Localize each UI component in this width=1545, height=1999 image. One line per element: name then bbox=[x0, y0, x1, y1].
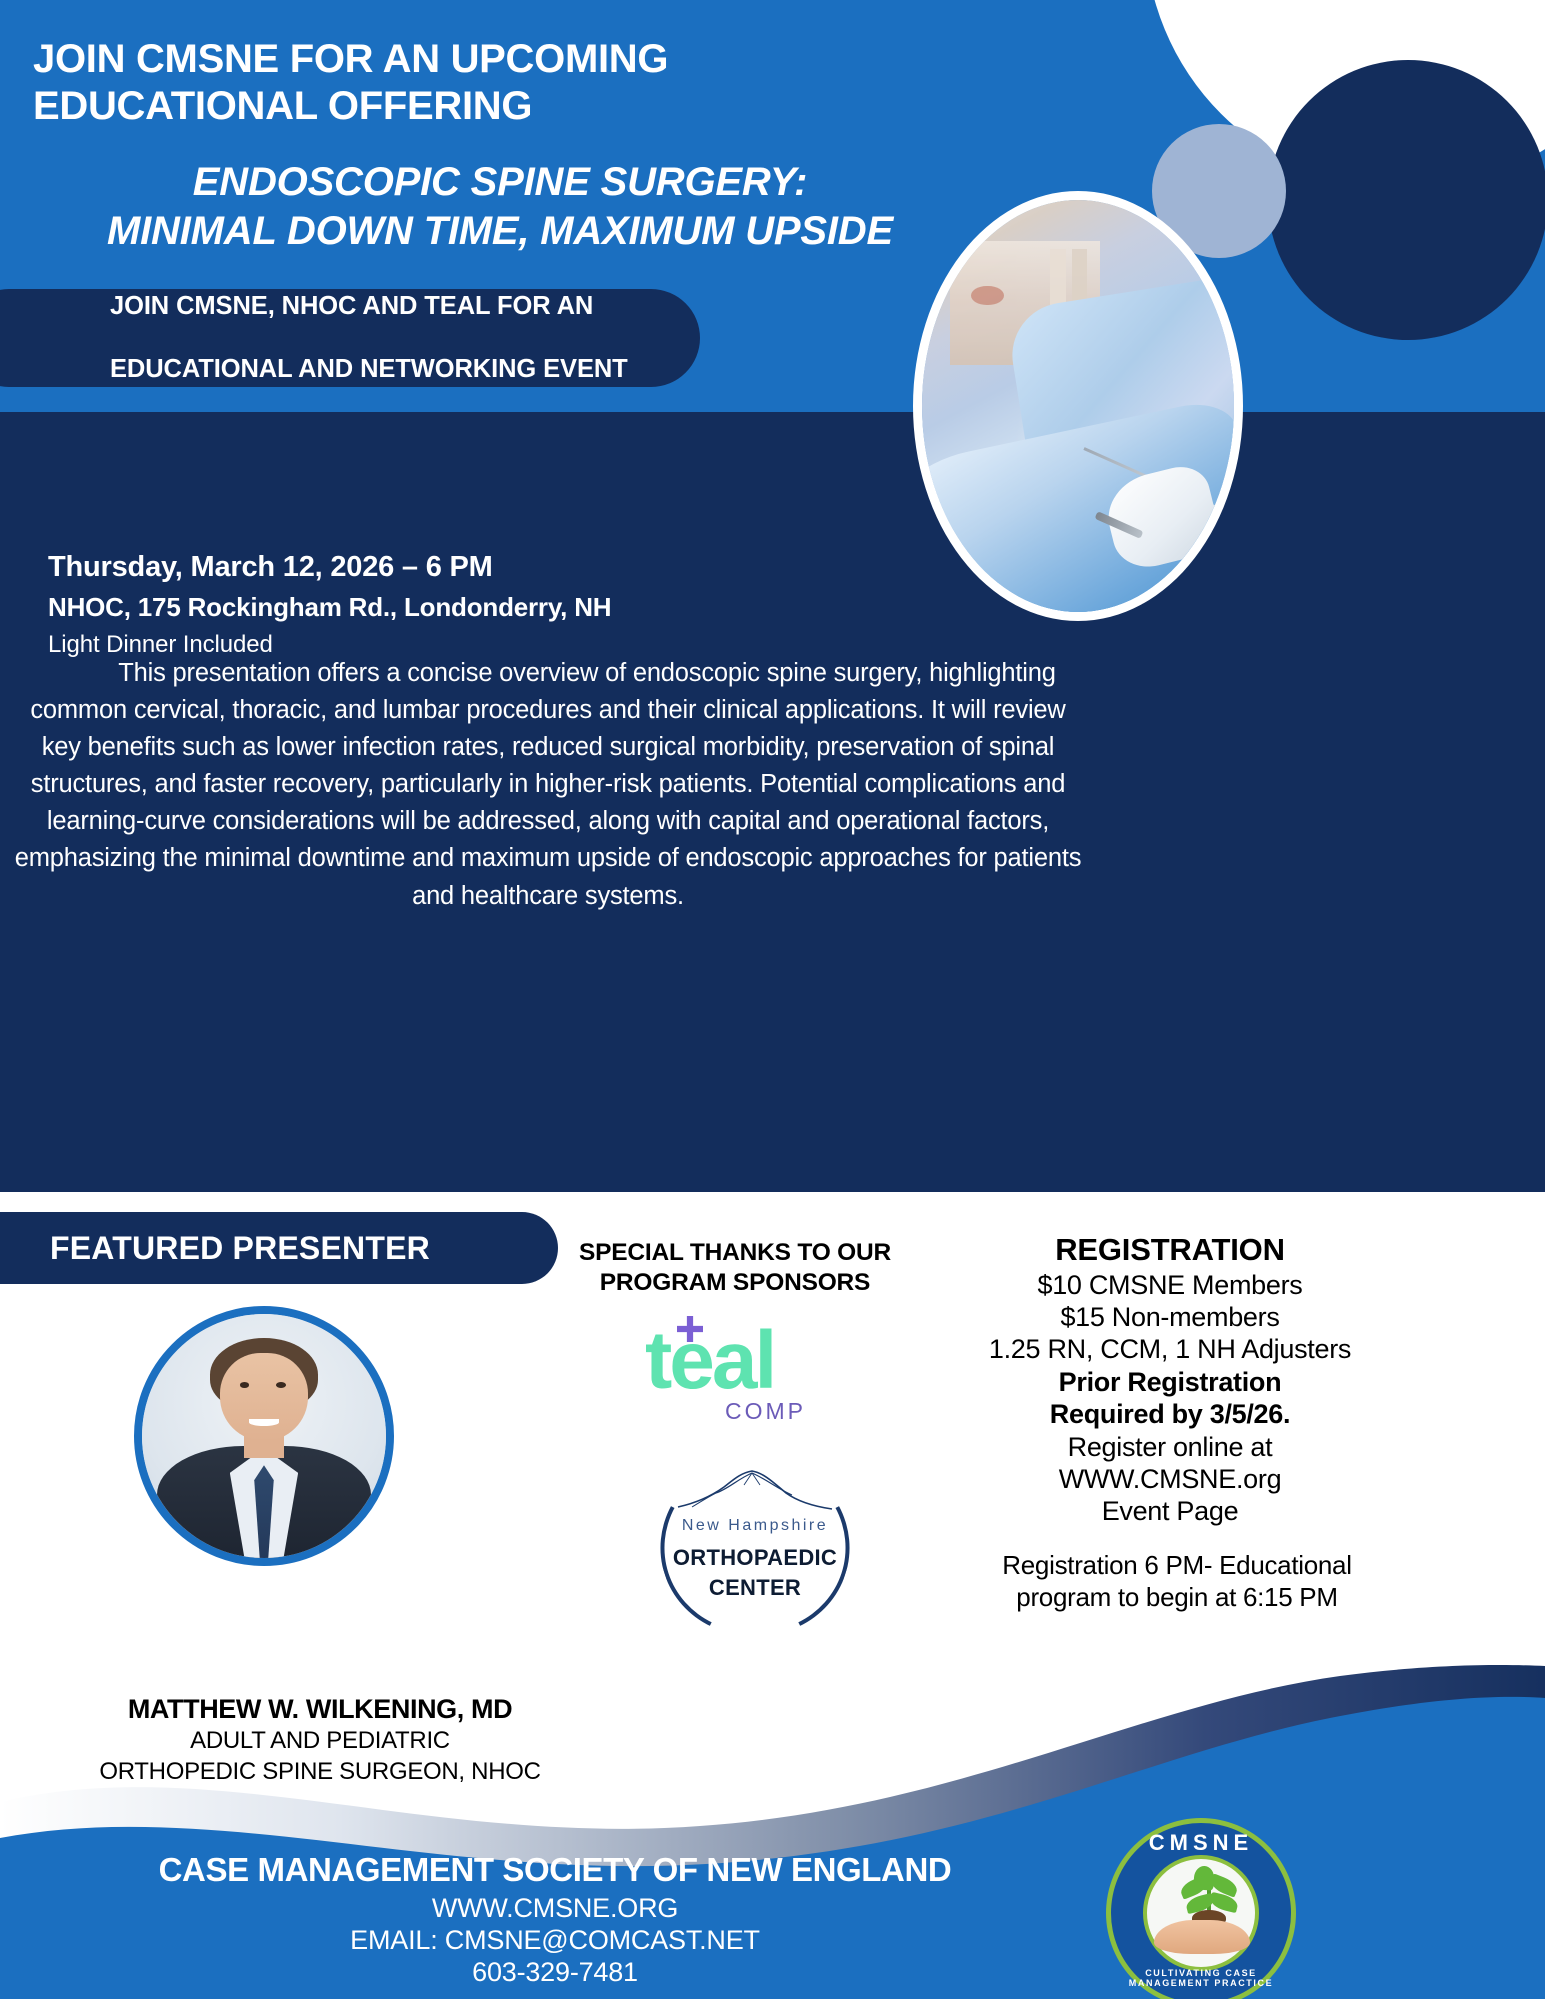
registration-required-line1: Prior Registration bbox=[960, 1366, 1380, 1398]
cmsne-seal-logo: CMSNE CULTIVATING CASE MANAGEMENT PRACTI… bbox=[1106, 1818, 1296, 1999]
nhoc-line3: CENTER bbox=[660, 1575, 850, 1601]
featured-presenter-pill: FEATURED PRESENTER bbox=[0, 1212, 558, 1284]
sponsors-heading-line1: SPECIAL THANKS TO OUR bbox=[579, 1239, 891, 1266]
footer-website[interactable]: WWW.CMSNE.ORG bbox=[0, 1893, 1110, 1924]
featured-presenter-label: FEATURED PRESENTER bbox=[0, 1230, 430, 1267]
presenter-avatar bbox=[134, 1306, 394, 1566]
sponsors-heading: SPECIAL THANKS TO OUR PROGRAM SPONSORS bbox=[535, 1238, 935, 1298]
surgery-photo-image bbox=[922, 200, 1234, 612]
blue-divider-strip bbox=[0, 393, 1545, 412]
footer-email[interactable]: EMAIL: CMSNE@COMCAST.NET bbox=[0, 1925, 1110, 1956]
registration-event-page[interactable]: Event Page bbox=[960, 1495, 1380, 1527]
invitation-line1: JOIN CMSNE, NHOC AND TEAL FOR AN bbox=[35, 291, 628, 322]
nhoc-line2: ORTHOPAEDIC bbox=[660, 1545, 850, 1571]
registration-schedule-line1: Registration 6 PM- Educational bbox=[1002, 1550, 1351, 1580]
registration-block: REGISTRATION $10 CMSNE Members $15 Non-m… bbox=[960, 1232, 1380, 1528]
nhoc-line1: New Hampshire bbox=[660, 1517, 850, 1535]
registration-schedule: Registration 6 PM- Educational program t… bbox=[952, 1550, 1402, 1613]
mountain-icon bbox=[676, 1467, 834, 1515]
surgery-photo bbox=[913, 191, 1243, 621]
invitation-line2: EDUCATIONAL AND NETWORKING EVENT bbox=[35, 354, 628, 385]
footer-org-name: CASE MANAGEMENT SOCIETY OF NEW ENGLAND bbox=[0, 1851, 1110, 1889]
seal-hand bbox=[1154, 1920, 1250, 1954]
invitation-pill-text: JOIN CMSNE, NHOC AND TEAL FOR AN EDUCATI… bbox=[0, 291, 628, 384]
teal-comp-logo: teal COMP bbox=[645, 1320, 865, 1440]
header-kicker: JOIN CMSNE FOR AN UPCOMING EDUCATIONAL O… bbox=[33, 36, 913, 130]
footer-phone[interactable]: 603-329-7481 bbox=[0, 1957, 1110, 1988]
seal-bottom-text: CULTIVATING CASE MANAGEMENT PRACTICE bbox=[1106, 1968, 1296, 1988]
registration-required-line2: Required by 3/5/26. bbox=[960, 1398, 1380, 1430]
event-location: NHOC, 175 Rockingham Rd., Londonderry, N… bbox=[48, 588, 948, 627]
event-details-block: Thursday, March 12, 2026 – 6 PM NHOC, 17… bbox=[48, 547, 948, 663]
event-title-line1: ENDOSCOPIC SPINE SURGERY: bbox=[30, 158, 970, 207]
event-description: This presentation offers a concise overv… bbox=[12, 655, 1084, 915]
registration-schedule-line2: program to begin at 6:15 PM bbox=[1016, 1582, 1337, 1612]
event-title-line2: MINIMAL DOWN TIME, MAXIMUM UPSIDE bbox=[30, 207, 970, 256]
registration-register-at: Register online at bbox=[960, 1431, 1380, 1463]
seal-top-text: CMSNE bbox=[1106, 1830, 1296, 1856]
flyer-page: JOIN CMSNE FOR AN UPCOMING EDUCATIONAL O… bbox=[0, 0, 1545, 1999]
presenter-face bbox=[220, 1353, 308, 1441]
event-title: ENDOSCOPIC SPINE SURGERY: MINIMAL DOWN T… bbox=[30, 158, 970, 256]
nhoc-logo: New Hampshire ORTHOPAEDIC CENTER bbox=[660, 1455, 850, 1635]
event-datetime: Thursday, March 12, 2026 – 6 PM bbox=[48, 547, 948, 588]
registration-title: REGISTRATION bbox=[960, 1232, 1380, 1269]
registration-website[interactable]: WWW.CMSNE.org bbox=[960, 1463, 1380, 1495]
registration-credits: 1.25 RN, CCM, 1 NH Adjusters bbox=[960, 1333, 1380, 1365]
teal-wordmark: teal bbox=[645, 1320, 865, 1402]
invitation-pill-banner: JOIN CMSNE, NHOC AND TEAL FOR AN EDUCATI… bbox=[0, 289, 700, 387]
teal-subtext: COMP bbox=[725, 1398, 806, 1425]
registration-price-members: $10 CMSNE Members bbox=[960, 1269, 1380, 1301]
registration-price-nonmembers: $15 Non-members bbox=[960, 1301, 1380, 1333]
decorative-navy-circle bbox=[1268, 60, 1545, 340]
sponsors-heading-line2: PROGRAM SPONSORS bbox=[600, 1269, 870, 1296]
